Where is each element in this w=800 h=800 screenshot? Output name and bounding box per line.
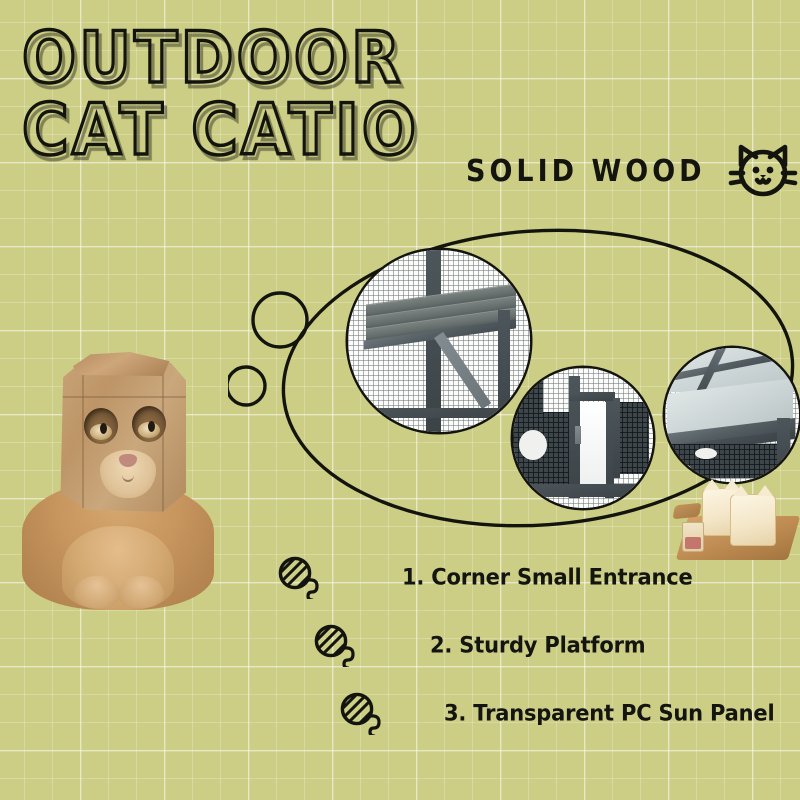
photo-corner-entrance <box>513 368 653 508</box>
feature-item-1: 1. Corner Small Entrance <box>276 543 788 611</box>
feature-label-3: 3. Transparent PC Sun Panel <box>444 700 774 725</box>
poster-headline: OUTDOOR CAT CATIO <box>22 24 452 155</box>
feature-label-1: 1. Corner Small Entrance <box>402 564 693 589</box>
solid-wood-label: SOLID WOOD <box>466 154 706 189</box>
yarn-ball-icon <box>338 691 388 735</box>
product-poster: OUTDOOR CAT CATIO SOLID WOOD <box>0 0 800 800</box>
cat-face-icon <box>728 140 798 202</box>
bubble-circle-smaller <box>228 367 265 405</box>
solid-wood-badge: SOLID WOOD <box>466 140 798 202</box>
bubble-circle-small <box>253 293 307 347</box>
feature-label-2: 2. Sturdy Platform <box>430 632 645 657</box>
headline-line-2: CAT CATIO <box>22 96 478 165</box>
feature-list: 1. Corner Small Entrance 2. Sturdy Platf… <box>276 543 788 747</box>
cat-with-paper-bag <box>22 358 214 610</box>
photo-sturdy-platform <box>348 250 530 432</box>
feature-item-3: 3. Transparent PC Sun Panel <box>276 679 788 747</box>
headline-line-1: OUTDOOR <box>22 24 478 93</box>
feature-item-2: 2. Sturdy Platform <box>276 611 788 679</box>
photo-sun-panel <box>665 348 799 482</box>
yarn-ball-icon <box>276 555 326 599</box>
yarn-ball-icon <box>312 623 362 667</box>
